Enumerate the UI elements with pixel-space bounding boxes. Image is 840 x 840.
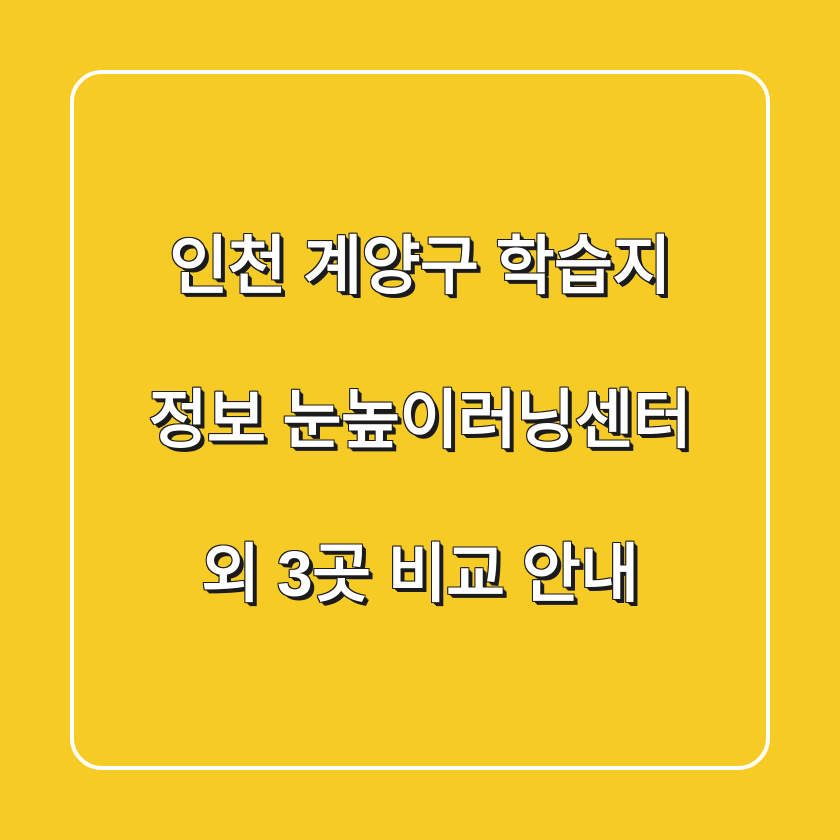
headline-line-3: 외 3곳 비교 안내: [70, 536, 770, 613]
page-title: 인천 계양구 학습지 정보 눈높이러닝센터 외 3곳 비교 안내: [70, 151, 770, 690]
headline-line-2: 정보 눈높이러닝센터: [70, 382, 770, 459]
headline-line-1: 인천 계양구 학습지: [70, 228, 770, 305]
poster-canvas: 인천 계양구 학습지 정보 눈높이러닝센터 외 3곳 비교 안내: [0, 0, 840, 840]
